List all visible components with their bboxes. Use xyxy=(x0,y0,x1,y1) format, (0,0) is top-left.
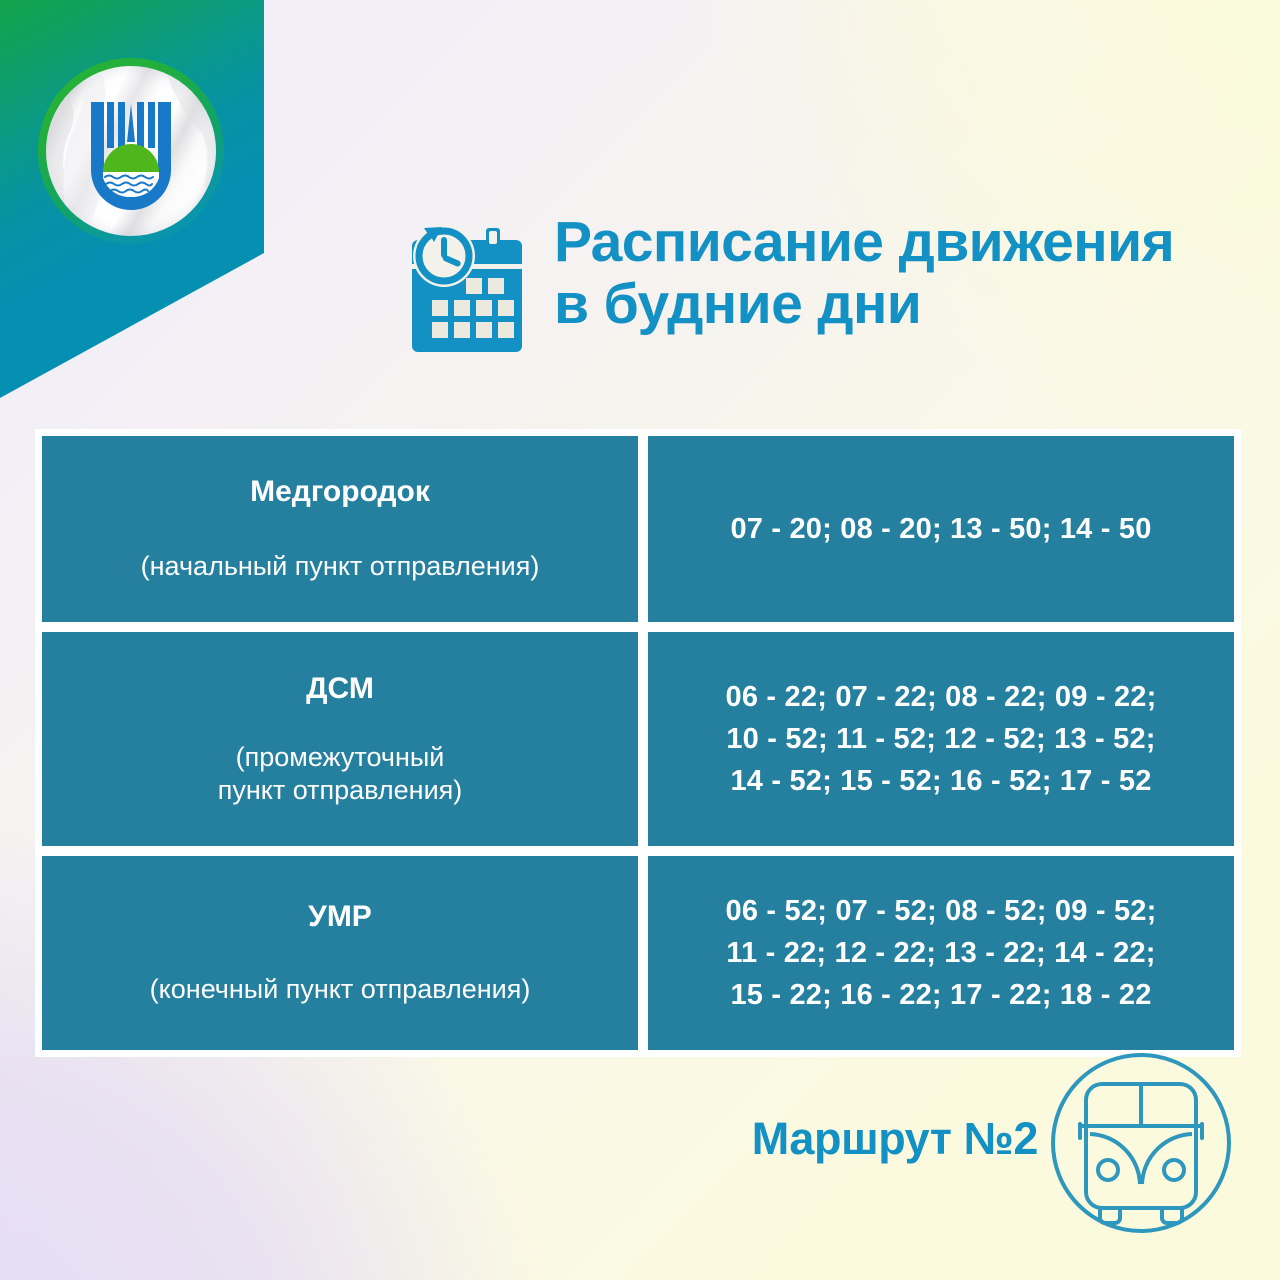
table-row: ДСМ (промежуточный пункт отправления) 06… xyxy=(42,632,1234,846)
stop-note: (начальный пункт отправления) xyxy=(141,550,540,583)
emblem-glyph-icon xyxy=(46,66,216,236)
page-footer: Маршрут №2 xyxy=(752,1048,1236,1238)
stop-name: ДСМ xyxy=(306,672,374,705)
times-cell: 06 - 52; 07 - 52; 08 - 52; 09 - 52; 11 -… xyxy=(648,856,1234,1050)
stop-cell: УМР (конечный пункт отправления) xyxy=(42,856,638,1050)
bus-circle-icon xyxy=(1046,1048,1236,1238)
stop-note: (конечный пункт отправления) xyxy=(150,973,531,1006)
stop-cell: ДСМ (промежуточный пункт отправления) xyxy=(42,632,638,846)
schedule-table: Медгородок (начальный пункт отправления)… xyxy=(35,429,1241,1057)
table-row: УМР (конечный пункт отправления) 06 - 52… xyxy=(42,856,1234,1050)
schedule-poster: Расписание движения в будние дни Медгоро… xyxy=(0,0,1280,1280)
departure-times: 06 - 52; 07 - 52; 08 - 52; 09 - 52; 11 -… xyxy=(726,890,1157,1017)
stop-cell: Медгородок (начальный пункт отправления) xyxy=(42,436,638,622)
stop-name: УМР xyxy=(308,900,372,933)
table-row: Медгородок (начальный пункт отправления)… xyxy=(42,436,1234,622)
departure-times: 07 - 20; 08 - 20; 13 - 50; 14 - 50 xyxy=(730,508,1151,550)
calendar-clock-icon xyxy=(398,222,534,362)
emblem-disc xyxy=(46,66,216,236)
stop-note: (промежуточный пункт отправления) xyxy=(218,741,463,807)
page-header: Расписание движения в будние дни xyxy=(398,212,1174,362)
times-cell: 07 - 20; 08 - 20; 13 - 50; 14 - 50 xyxy=(648,436,1234,622)
times-cell: 06 - 22; 07 - 22; 08 - 22; 09 - 22; 10 -… xyxy=(648,632,1234,846)
route-label: Маршрут №2 xyxy=(752,1113,1038,1165)
city-emblem xyxy=(38,58,224,244)
page-title: Расписание движения в будние дни xyxy=(554,212,1174,335)
stop-name: Медгородок xyxy=(250,475,430,508)
departure-times: 06 - 22; 07 - 22; 08 - 22; 09 - 22; 10 -… xyxy=(726,676,1157,803)
